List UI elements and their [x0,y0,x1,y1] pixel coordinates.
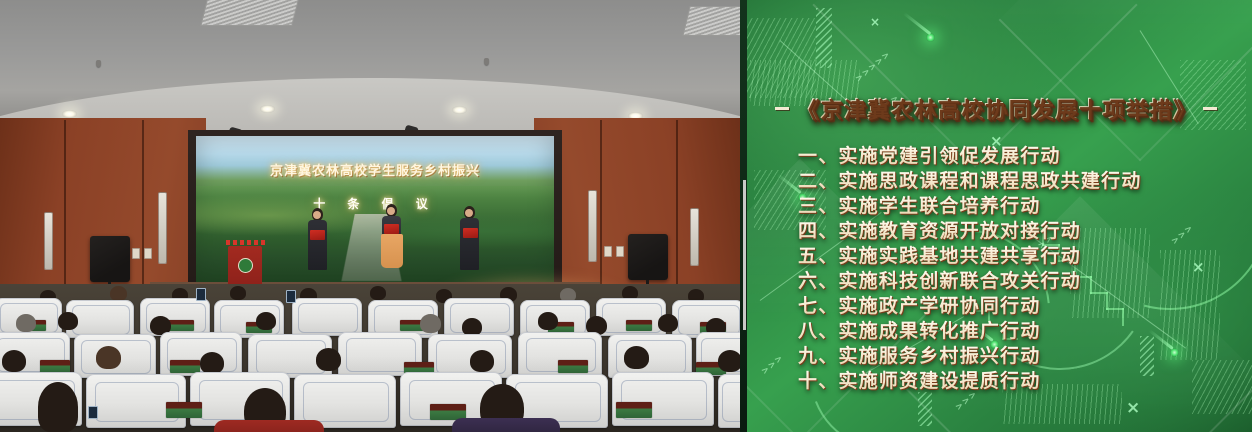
wall-speaker [90,236,130,282]
list-item-1: 一、实施党建引领促发展行动 [740,144,1252,169]
audience-head-foreground [38,382,78,432]
measures-list: 一、实施党建引领促发展行动 二、实施思政课程和课程思政共建行动 三、实施学生联合… [740,144,1252,394]
seat-name-placard [166,402,202,418]
measures-panel: >>>>> >>> >>> >>> >>> >>> × × × × 《京津冀农林… [740,0,1252,432]
ceiling-light [452,106,467,114]
seat-name-placard [626,320,652,331]
list-item-3: 三、实施学生联合培养行动 [740,194,1252,219]
seat-name-placard [616,402,652,418]
audience-head [470,350,494,372]
sprinkler-icon [484,58,489,65]
wall-outlet [604,246,612,257]
presenter-body [460,218,479,270]
seat-name-placard [170,360,200,373]
wall-speaker [628,234,668,280]
university-emblem-icon [238,258,253,273]
audience-head [624,346,649,369]
list-item-2: 二、实施思政课程和课程思政共建行动 [740,169,1252,194]
list-item-7: 七、实施政产学研协同行动 [740,294,1252,319]
sprinkler-icon [96,60,101,67]
ceiling-light [62,110,77,118]
ac-vent-icon [200,0,299,26]
wall-outlet [132,248,140,259]
led-screen-title: 京津冀农林高校学生服务乡村振兴 [196,160,554,179]
panel-content: 《京津冀农林高校协同发展十项举措》 一、实施党建引领促发展行动 二、实施思政课程… [740,0,1252,432]
audience-head [718,350,740,372]
page-title: 《京津冀农林高校协同发展十项举措》 [796,92,1196,124]
audience-head [256,312,276,330]
audience-phone [286,290,296,303]
red-folder [310,230,325,240]
audience-phone [196,288,206,301]
presenter-face [465,209,473,217]
line-array-speaker [158,192,167,264]
line-array-speaker [44,212,53,270]
title-dash-left [775,107,789,110]
line-array-speaker [588,190,597,262]
auditorium-photo: 京津冀农林高校学生服务乡村振兴 十 条 倡 议 [0,0,740,432]
red-folder [463,228,478,238]
wall-outlet [616,246,624,257]
auditorium-seat [718,374,740,428]
audience-head [420,314,441,333]
presenter-body [308,220,327,270]
audience-shoulders [214,420,324,432]
audience-head [200,352,224,374]
led-screen-subtitle: 十 条 倡 议 [196,195,554,212]
audience-head [658,314,678,332]
title-dash-right [1203,107,1217,110]
list-item-8: 八、实施成果转化推广行动 [740,319,1252,344]
list-item-10: 十、实施师资建设提质行动 [740,369,1252,394]
presenter-face [387,207,395,215]
audience-shoulders [452,418,560,432]
screenshot-root: 京津冀农林高校学生服务乡村振兴 十 条 倡 议 [0,0,1252,432]
seat-name-placard [168,320,194,331]
audience-head [96,346,121,369]
audience-area [0,284,740,432]
audience-head [230,286,246,300]
audience-head [110,286,127,301]
panel-title-row: 《京津冀农林高校协同发展十项举措》 [740,92,1252,124]
list-item-5: 五、实施实践基地共建共享行动 [740,244,1252,269]
audience-head [316,348,341,371]
audience-head [58,312,78,330]
podium-banner-text [226,240,266,245]
list-item-6: 六、实施科技创新联合攻关行动 [740,269,1252,294]
presenter-face [313,211,321,219]
seat-name-placard [558,360,588,373]
auditorium-seat [292,298,362,336]
wall-outlet [144,248,152,259]
list-item-9: 九、实施服务乡村振兴行动 [740,344,1252,369]
presenter-dress [381,234,403,268]
audience-head [538,312,558,330]
line-array-speaker [690,208,699,266]
ac-vent-icon [682,6,740,36]
panel-edge-marker [743,180,746,330]
audience-head [370,286,386,300]
ceiling-light [260,105,275,113]
list-item-4: 四、实施教育资源开放对接行动 [740,219,1252,244]
audience-head [2,350,26,372]
auditorium-seat [86,374,186,428]
audience-head [16,314,36,332]
red-folder [384,224,399,234]
audience-phone [88,406,98,419]
